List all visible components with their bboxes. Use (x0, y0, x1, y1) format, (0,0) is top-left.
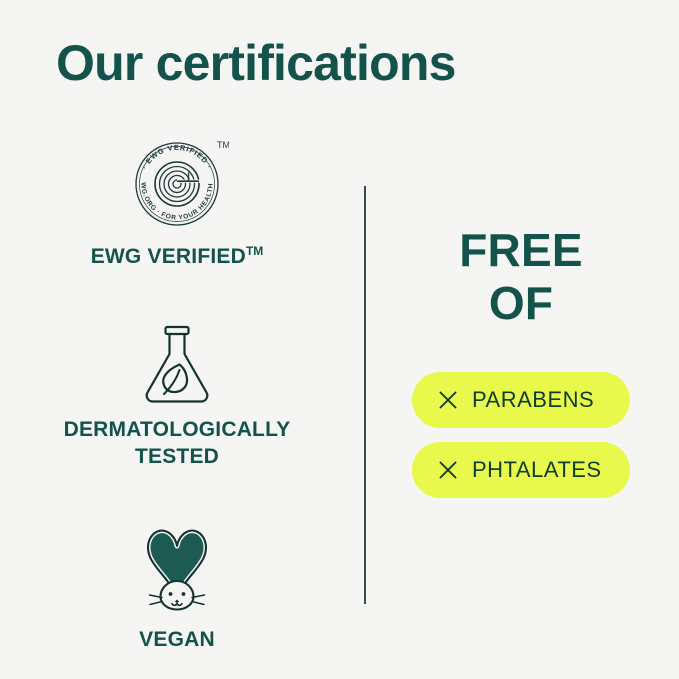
certification-label-ewg-verified: EWG VERIFIEDTM (91, 244, 264, 271)
certification-label-line-1: DERMATOLOGICALLY (64, 418, 291, 441)
free-of-title-line-1: FREE (459, 224, 582, 276)
free-of-title: FREE OF (459, 224, 582, 330)
vertical-divider (364, 186, 366, 604)
trademark-symbol: TM (246, 244, 263, 258)
certification-item-ewg-verified: · EWG VERIFIED · EWG.ORG · FOR YOUR HEAL… (16, 132, 338, 271)
free-of-section: FREE OF PARABENS PHTALATES (380, 224, 662, 498)
seal-trademark-text: TM (217, 140, 229, 150)
free-of-pill-parabens: PARABENS (412, 372, 630, 428)
certifications-list: · EWG VERIFIED · EWG.ORG · FOR YOUR HEAL… (16, 132, 338, 654)
certification-label-text: EWG VERIFIED (91, 245, 246, 268)
certification-label-line-2: TESTED (135, 445, 219, 468)
certification-item-dermatologically-tested: DERMATOLOGICALLY TESTED (16, 323, 338, 471)
close-x-icon (438, 390, 458, 410)
flask-with-leaf-icon (139, 323, 215, 405)
certification-label-vegan: VEGAN (139, 627, 215, 654)
ewg-verified-seal-icon: · EWG VERIFIED · EWG.ORG · FOR YOUR HEAL… (125, 132, 229, 232)
free-of-pill-phtalates: PHTALATES (412, 442, 630, 498)
rabbit-heart-ears-icon (129, 519, 225, 615)
certification-item-vegan: VEGAN (16, 519, 338, 654)
free-of-list: PARABENS PHTALATES (412, 372, 630, 498)
page-title: Our certifications (56, 36, 456, 91)
free-of-title-line-2: OF (489, 277, 553, 329)
free-of-pill-label: PHTALATES (472, 457, 602, 483)
close-x-icon (438, 460, 458, 480)
free-of-pill-label: PARABENS (472, 387, 594, 413)
certification-label-dermatologically-tested: DERMATOLOGICALLY TESTED (64, 417, 291, 471)
certifications-page: Our certifications · EWG VERIFIED · (0, 0, 679, 679)
